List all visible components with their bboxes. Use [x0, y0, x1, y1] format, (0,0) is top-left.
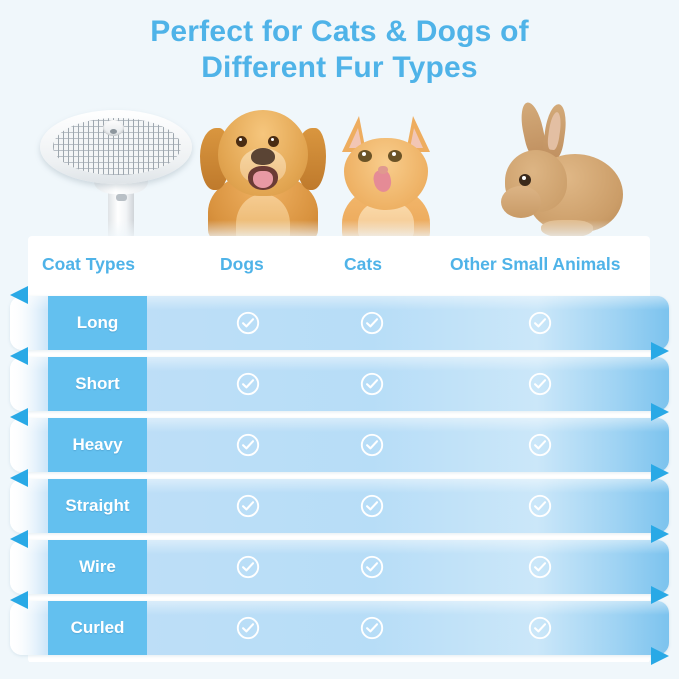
check-icon-dogs: [236, 433, 260, 457]
rabbit-eye: [519, 174, 531, 186]
dog-tongue: [253, 171, 273, 188]
dog-eye-right: [268, 136, 279, 147]
check-icon-other-small-animals: [528, 372, 552, 396]
ribbon-tab-left-icon: [10, 286, 28, 304]
page-bottom-fill: [0, 662, 679, 679]
ribbon-tab-left-icon: [10, 408, 28, 426]
table-body: LongShortHeavyStraightWireCurled: [0, 296, 679, 666]
cat-eye-left: [358, 150, 372, 162]
check-icon-dogs: [236, 311, 260, 335]
table-row: Curled: [0, 601, 679, 655]
coat-type-label: Wire: [48, 540, 147, 594]
cat-nose: [378, 166, 388, 174]
table-row: Long: [0, 296, 679, 350]
rabbit-cheek: [501, 186, 541, 218]
check-icon-cats: [360, 616, 384, 640]
ribbon-tab-right-icon: [651, 586, 669, 604]
table-row: Straight: [0, 479, 679, 533]
brush-head: [40, 110, 192, 184]
ribbon-tab-left-icon: [10, 591, 28, 609]
hero-image-strip: [0, 92, 679, 242]
ribbon-tab-left-icon: [10, 530, 28, 548]
page-title: Perfect for Cats & Dogs of Different Fur…: [0, 14, 679, 86]
ribbon-tab-right-icon: [651, 342, 669, 360]
coat-type-label: Straight: [48, 479, 147, 533]
check-icon-dogs: [236, 372, 260, 396]
coat-type-label: Curled: [48, 601, 147, 655]
check-icon-dogs: [236, 616, 260, 640]
table-row: Short: [0, 357, 679, 411]
brush-release-knob: [103, 120, 124, 136]
coat-type-label: Long: [48, 296, 147, 350]
infographic-page: Perfect for Cats & Dogs of Different Fur…: [0, 0, 679, 679]
check-icon-dogs: [236, 555, 260, 579]
check-icon-cats: [360, 494, 384, 518]
check-icon-other-small-animals: [528, 433, 552, 457]
column-header-other-small-animals: Other Small Animals: [450, 252, 621, 276]
column-header-dogs: Dogs: [220, 252, 264, 276]
check-icon-cats: [360, 433, 384, 457]
ribbon-tab-right-icon: [651, 525, 669, 543]
check-icon-other-small-animals: [528, 555, 552, 579]
column-header-cats: Cats: [344, 252, 382, 276]
cat-eye-right: [388, 150, 402, 162]
check-icon-other-small-animals: [528, 311, 552, 335]
table-row: Wire: [0, 540, 679, 594]
check-icon-other-small-animals: [528, 616, 552, 640]
check-icon-cats: [360, 372, 384, 396]
ribbon-tab-left-icon: [10, 347, 28, 365]
ribbon-tab-left-icon: [10, 469, 28, 487]
check-icon-other-small-animals: [528, 494, 552, 518]
coat-type-label: Heavy: [48, 418, 147, 472]
dog-eye-left: [236, 136, 247, 147]
table-row: Heavy: [0, 418, 679, 472]
pet-grooming-brush-image: [36, 102, 196, 237]
check-icon-dogs: [236, 494, 260, 518]
title-line-1: Perfect for Cats & Dogs of: [150, 15, 529, 48]
check-icon-cats: [360, 555, 384, 579]
check-icon-cats: [360, 311, 384, 335]
coat-type-label: Short: [48, 357, 147, 411]
ribbon-tab-right-icon: [651, 647, 669, 665]
column-header-coat-types: Coat Types: [42, 252, 135, 276]
brush-button: [116, 194, 127, 201]
table-header-row: Coat Types Dogs Cats Other Small Animals: [28, 252, 650, 292]
ribbon-tab-right-icon: [651, 403, 669, 421]
dog-nose: [251, 148, 275, 165]
title-line-2: Different Fur Types: [0, 50, 679, 86]
ribbon-tab-right-icon: [651, 464, 669, 482]
